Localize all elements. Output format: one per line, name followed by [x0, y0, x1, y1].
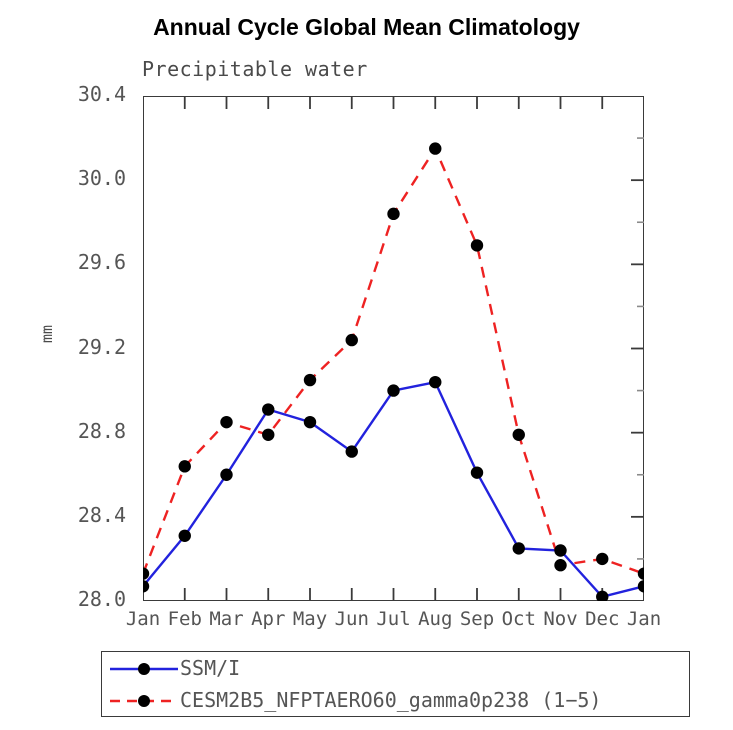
x-tick-label: Mar — [209, 608, 243, 630]
legend-label: CESM2B5_NFPTAERO60_gamma0p238 (1−5) — [180, 688, 601, 712]
legend: SSM/I CESM2B5_NFPTAERO60_gamma0p238 (1−5… — [101, 651, 690, 717]
axis-ticks — [143, 96, 644, 601]
y-tick-label: 28.4 — [52, 503, 126, 527]
data-point — [638, 580, 644, 592]
data-point — [554, 544, 566, 556]
data-series — [143, 142, 644, 601]
data-point — [471, 466, 483, 478]
chart-canvas: Annual Cycle Global Mean Climatology Pre… — [0, 0, 733, 730]
data-point — [220, 469, 232, 481]
data-point — [143, 580, 149, 592]
x-tick-label: Apr — [251, 608, 285, 630]
x-tick-label: Oct — [502, 608, 536, 630]
data-point — [143, 567, 149, 579]
data-point — [387, 384, 399, 396]
data-point — [471, 239, 483, 251]
x-tick-label: Aug — [418, 608, 452, 630]
data-point — [638, 567, 644, 579]
legend-row[interactable]: SSM/I — [102, 652, 691, 685]
legend-row[interactable]: CESM2B5_NFPTAERO60_gamma0p238 (1−5) — [102, 684, 691, 717]
data-point — [596, 553, 608, 565]
data-point — [513, 429, 525, 441]
data-point — [179, 460, 191, 472]
data-point — [513, 542, 525, 554]
data-point — [220, 416, 232, 428]
x-tick-label-group: JanFebMarAprMayJunJulAugSepOctNovDecJan — [0, 608, 733, 638]
y-tick-label: 30.4 — [52, 82, 126, 106]
y-tick-label: 29.2 — [52, 335, 126, 359]
data-point — [304, 416, 316, 428]
data-point — [429, 376, 441, 388]
data-point — [262, 403, 274, 415]
data-point — [554, 559, 566, 571]
x-tick-label: Feb — [168, 608, 202, 630]
data-point — [346, 334, 358, 346]
data-point — [387, 208, 399, 220]
y-tick-label: 29.6 — [52, 250, 126, 274]
data-point — [429, 142, 441, 154]
y-tick-label: 30.0 — [52, 166, 126, 190]
series-line-0 — [143, 382, 644, 597]
data-point — [179, 530, 191, 542]
x-tick-label: Jun — [335, 608, 369, 630]
x-tick-label: Jan — [627, 608, 661, 630]
x-tick-label: Dec — [585, 608, 619, 630]
plot-series-layer — [143, 96, 644, 601]
x-tick-label: Jul — [376, 608, 410, 630]
y-tick-label: 28.8 — [52, 419, 126, 443]
data-point — [262, 429, 274, 441]
legend-sample-ssmi — [108, 652, 180, 685]
x-tick-label: May — [293, 608, 327, 630]
data-point — [346, 445, 358, 457]
chart-subtitle: Precipitable water — [142, 57, 368, 81]
x-tick-label: Nov — [543, 608, 577, 630]
data-point — [304, 374, 316, 386]
x-tick-label: Sep — [460, 608, 494, 630]
x-tick-label: Jan — [126, 608, 160, 630]
legend-label: SSM/I — [180, 656, 240, 680]
legend-sample-cesm — [108, 684, 180, 717]
